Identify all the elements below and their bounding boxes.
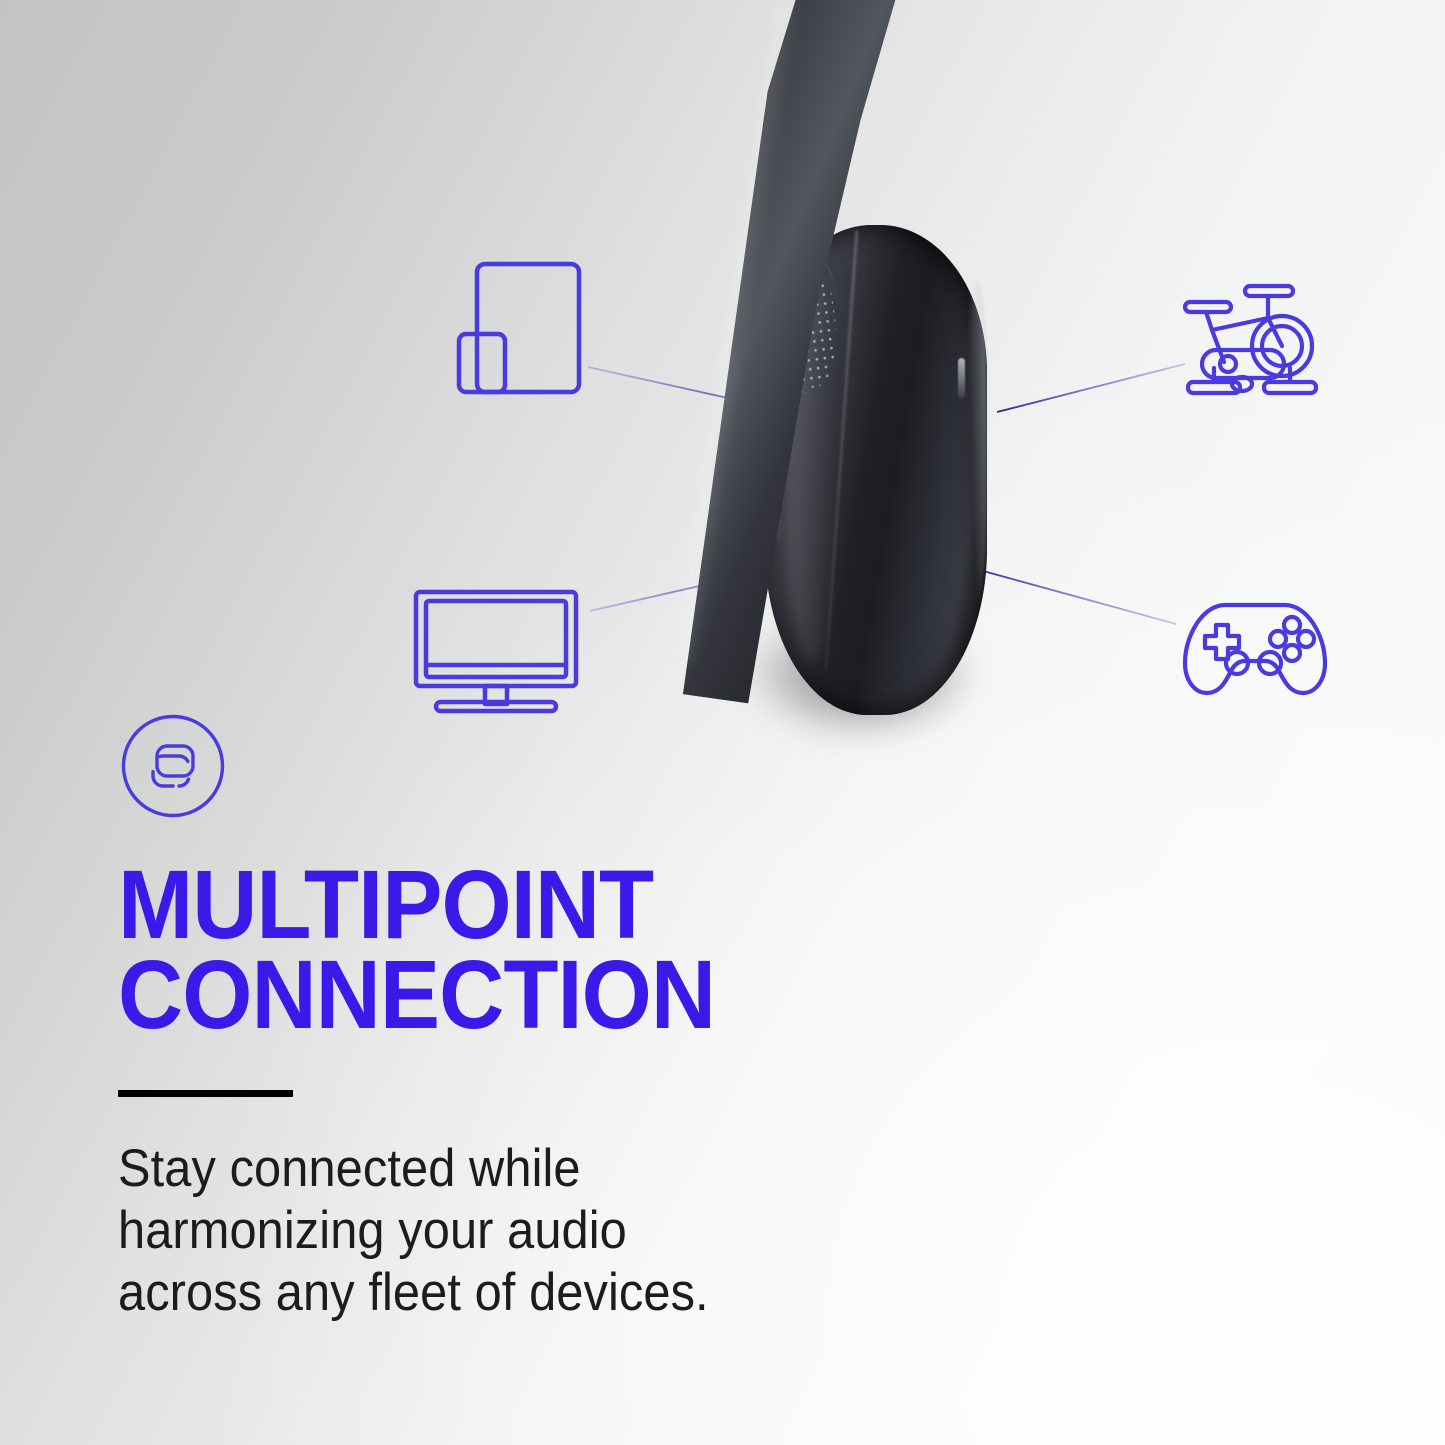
game-controller-icon [1180,597,1330,701]
page-title: MULTIPOINT CONNECTION [118,860,881,1040]
ear-cup-accent-notch [958,358,965,398]
subcopy-line-2: harmonizing your audio [118,1200,891,1262]
subcopy-line-1: Stay connected while [118,1138,891,1200]
monitor-tv-icon [412,588,580,714]
headline-line-1: MULTIPOINT [118,860,881,950]
headline-line-2: CONNECTION [118,950,881,1040]
badge-circle [124,717,223,816]
feature-description: Stay connected while harmonizing your au… [118,1138,891,1324]
ear-cup-right-edge [967,280,987,600]
subcopy-line-3: across any fleet of devices. [118,1262,891,1324]
headphone-product-image [690,0,1090,780]
feature-card: MULTIPOINT CONNECTION Stay connected whi… [0,0,1445,1445]
headline-divider [118,1090,293,1097]
link-chain-icon [153,746,193,786]
multipoint-badge [120,713,226,824]
exercise-bike-icon [1172,258,1324,398]
tablet-and-phone-icon [455,258,585,408]
